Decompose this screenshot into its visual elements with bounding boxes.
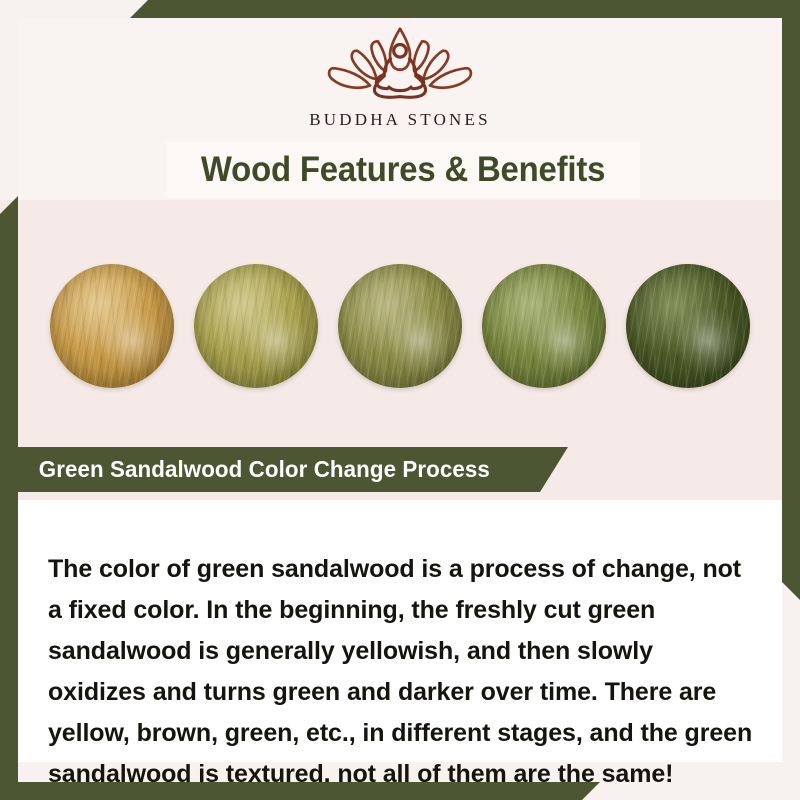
bead-stage-4 [482, 264, 606, 388]
frame-border-right [782, 0, 800, 600]
bead-stage-3 [338, 264, 462, 388]
frame-border-left [0, 196, 18, 800]
bead-shading [338, 264, 462, 388]
body-paragraph: The color of green sandalwood is a proce… [48, 549, 754, 795]
infographic-page: BUDDHA STONES Wood Features & Benefits G… [0, 0, 800, 800]
bead-shading [482, 264, 606, 388]
section-banner-title: Green Sandalwood Color Change Process [25, 456, 490, 483]
bead-stage-5 [626, 264, 750, 388]
brand-logo: BUDDHA STONES [0, 24, 800, 130]
frame-border-top [0, 0, 800, 18]
bead-shading [50, 264, 174, 388]
lotus-meditation-icon [320, 24, 480, 106]
brand-name: BUDDHA STONES [0, 110, 800, 130]
bead-stage-2 [194, 264, 318, 388]
section-banner: Green Sandalwood Color Change Process [18, 447, 568, 492]
bead-shading [626, 264, 750, 388]
bead-stage-1 [50, 264, 174, 388]
bead-shading [194, 264, 318, 388]
bead-color-stages [0, 256, 800, 396]
page-title: Wood Features & Benefits [201, 150, 605, 190]
page-title-band: Wood Features & Benefits [166, 142, 640, 198]
